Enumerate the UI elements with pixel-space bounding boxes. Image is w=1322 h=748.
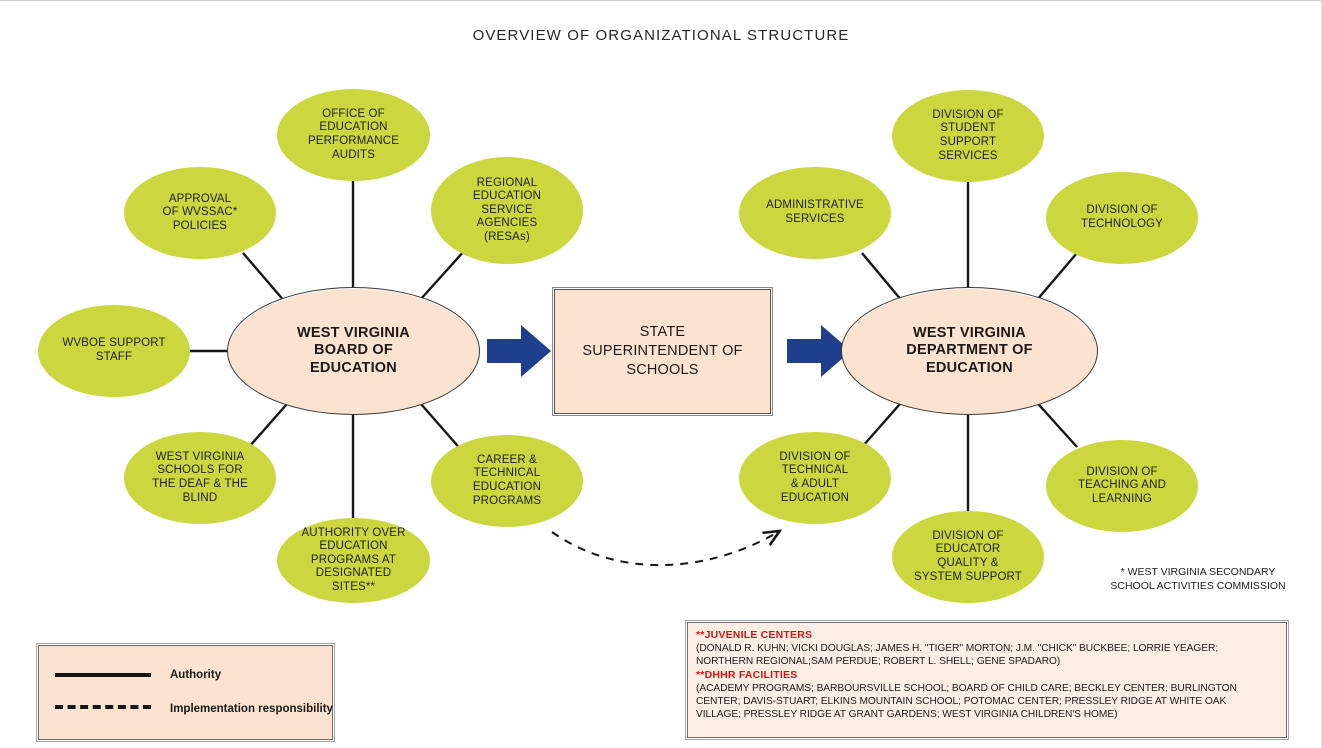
superintendent-line-2: SUPERINTENDENT OF <box>582 342 742 361</box>
node-division-educator-quality-system-support[interactable]: DIVISION OF EDUCATOR QUALITY & SYSTEM SU… <box>892 511 1044 603</box>
label-line: CAREER & <box>465 454 549 468</box>
node-state-superintendent-of-schools[interactable]: STATE SUPERINTENDENT OF SCHOOLS <box>554 289 771 414</box>
dashed-line-icon <box>55 705 151 713</box>
label-line: BLIND <box>144 492 256 506</box>
superintendent-line-1: STATE <box>582 323 742 342</box>
label-line: TECHNOLOGY <box>1073 218 1171 232</box>
node-division-technical-adult-education[interactable]: DIVISION OF TECHNICAL & ADULT EDUCATION <box>739 432 891 524</box>
label-line: AUDITS <box>300 149 407 163</box>
department-line-2: DEPARTMENT OF <box>906 342 1032 359</box>
label-line: DIVISION OF <box>1070 466 1174 480</box>
label-line: THE DEAF & THE <box>144 478 256 492</box>
juvenile-centers-heading: **JUVENILE CENTERS <box>696 629 1279 642</box>
wvssac-footnote-line-1: * WEST VIRGINIA SECONDARY <box>1098 565 1298 579</box>
label-line: DESIGNATED <box>293 567 413 581</box>
label-line: AUTHORITY OVER <box>293 527 413 541</box>
board-line-3: EDUCATION <box>297 360 410 377</box>
node-authority-education-programs-designated-sites[interactable]: AUTHORITY OVER EDUCATION PROGRAMS AT DES… <box>277 518 430 603</box>
juvenile-centers-line-1: (DONALD R. KUHN; VICKI DOUGLAS; JAMES H.… <box>696 642 1279 655</box>
label-line: SCHOOLS FOR <box>144 464 256 478</box>
page-title: OVERVIEW OF ORGANIZATIONAL STRUCTURE <box>0 27 1322 44</box>
label-line: APPROVAL <box>155 193 246 207</box>
node-wvboe-support-staff[interactable]: WVBOE SUPPORT STAFF <box>38 305 190 397</box>
node-approval-wvssac-policies[interactable]: APPROVAL OF WVSSAC* POLICIES <box>124 167 276 259</box>
node-wv-board-of-education[interactable]: WEST VIRGINIA BOARD OF EDUCATION <box>227 287 480 415</box>
node-regional-education-service-agencies[interactable]: REGIONAL EDUCATION SERVICE AGENCIES (RES… <box>431 157 583 264</box>
superintendent-line-3: SCHOOLS <box>582 361 742 380</box>
label-line: DIVISION OF <box>924 109 1011 123</box>
juvenile-centers-line-2: NORTHERN REGIONAL;SAM PERDUE; ROBERT L. … <box>696 655 1279 668</box>
label-line: ADMINISTRATIVE <box>758 199 872 213</box>
department-line-1: WEST VIRGINIA <box>906 325 1032 342</box>
dhhr-facilities-heading: **DHHR FACILITIES <box>696 669 1279 682</box>
legend-row-implementation: Implementation responsibility <box>55 703 333 715</box>
implementation-link <box>552 532 778 565</box>
label-line: LEARNING <box>1070 493 1174 507</box>
label-line: SERVICE <box>465 204 549 218</box>
node-career-technical-education-programs[interactable]: CAREER & TECHNICAL EDUCATION PROGRAMS <box>431 435 583 527</box>
label-line: STAFF <box>54 351 173 365</box>
node-division-student-support-services[interactable]: DIVISION OF STUDENT SUPPORT SERVICES <box>892 90 1044 182</box>
label-line: REGIONAL <box>465 177 549 191</box>
label-line: TEACHING AND <box>1070 479 1174 493</box>
legend-box: Authority Implementation responsibility <box>38 645 333 740</box>
node-wv-department-of-education[interactable]: WEST VIRGINIA DEPARTMENT OF EDUCATION <box>841 287 1098 415</box>
label-line: EDUCATION <box>465 481 549 495</box>
label-line: OF WVSSAC* <box>155 206 246 220</box>
node-division-technology[interactable]: DIVISION OF TECHNOLOGY <box>1046 172 1198 264</box>
wvssac-footnote: * WEST VIRGINIA SECONDARY SCHOOL ACTIVIT… <box>1098 565 1298 593</box>
node-wv-schools-deaf-blind[interactable]: WEST VIRGINIA SCHOOLS FOR THE DEAF & THE… <box>124 432 276 524</box>
wvssac-footnote-line-2: SCHOOL ACTIVITIES COMMISSION <box>1098 579 1298 593</box>
label-line: EDUCATOR <box>906 543 1030 557</box>
board-line-2: BOARD OF <box>297 342 410 359</box>
label-line: DIVISION OF <box>1073 204 1171 218</box>
label-line: QUALITY & <box>906 557 1030 571</box>
dhhr-facilities-line-3: VILLAGE; PRESSLEY RIDGE AT GRANT GARDENS… <box>696 708 1279 721</box>
dhhr-facilities-line-1: (ACADEMY PROGRAMS; BARBOURSVILLE SCHOOL;… <box>696 682 1279 695</box>
label-line: PROGRAMS AT <box>293 554 413 568</box>
solid-line-icon <box>55 673 151 677</box>
label-line: TECHNICAL <box>771 464 858 478</box>
label-line: EDUCATION <box>300 121 407 135</box>
label-line: SUPPORT <box>924 136 1011 150</box>
label-line: SERVICES <box>924 150 1011 164</box>
label-line: SYSTEM SUPPORT <box>906 571 1030 585</box>
label-line: PROGRAMS <box>465 495 549 509</box>
label-line: (RESAs) <box>465 231 549 245</box>
node-administrative-services[interactable]: ADMINISTRATIVE SERVICES <box>739 167 891 259</box>
legend-label-implementation: Implementation responsibility <box>170 703 333 715</box>
label-line: OFFICE OF <box>300 108 407 122</box>
label-line: AGENCIES <box>465 217 549 231</box>
legend-row-authority: Authority <box>55 669 221 681</box>
label-line: SERVICES <box>758 213 872 227</box>
label-line: WVBOE SUPPORT <box>54 337 173 351</box>
label-line: EDUCATION <box>293 540 413 554</box>
footnotes-box: **JUVENILE CENTERS (DONALD R. KUHN; VICK… <box>687 622 1287 738</box>
label-line: PERFORMANCE <box>300 135 407 149</box>
node-division-teaching-learning[interactable]: DIVISION OF TEACHING AND LEARNING <box>1046 440 1198 532</box>
dhhr-facilities-line-2: CENTER; DAVIS-STUART; ELKINS MOUNTAIN SC… <box>696 695 1279 708</box>
label-line: EDUCATION <box>465 190 549 204</box>
label-line: & ADULT <box>771 478 858 492</box>
label-line: EDUCATION <box>771 492 858 506</box>
flow-arrow-board-to-superintendent <box>487 325 551 377</box>
legend-label-authority: Authority <box>170 669 221 681</box>
label-line: WEST VIRGINIA <box>144 451 256 465</box>
top-divider <box>0 0 1322 1</box>
label-line: POLICIES <box>155 220 246 234</box>
label-line: SITES** <box>293 581 413 595</box>
label-line: DIVISION OF <box>771 451 858 465</box>
department-line-3: EDUCATION <box>906 360 1032 377</box>
node-office-education-performance-audits[interactable]: OFFICE OF EDUCATION PERFORMANCE AUDITS <box>277 89 430 181</box>
label-line: TECHNICAL <box>465 467 549 481</box>
board-line-1: WEST VIRGINIA <box>297 325 410 342</box>
label-line: DIVISION OF <box>906 530 1030 544</box>
label-line: STUDENT <box>924 122 1011 136</box>
diagram-canvas: OVERVIEW OF ORGANIZATIONAL STRUCTURE <box>0 0 1322 748</box>
